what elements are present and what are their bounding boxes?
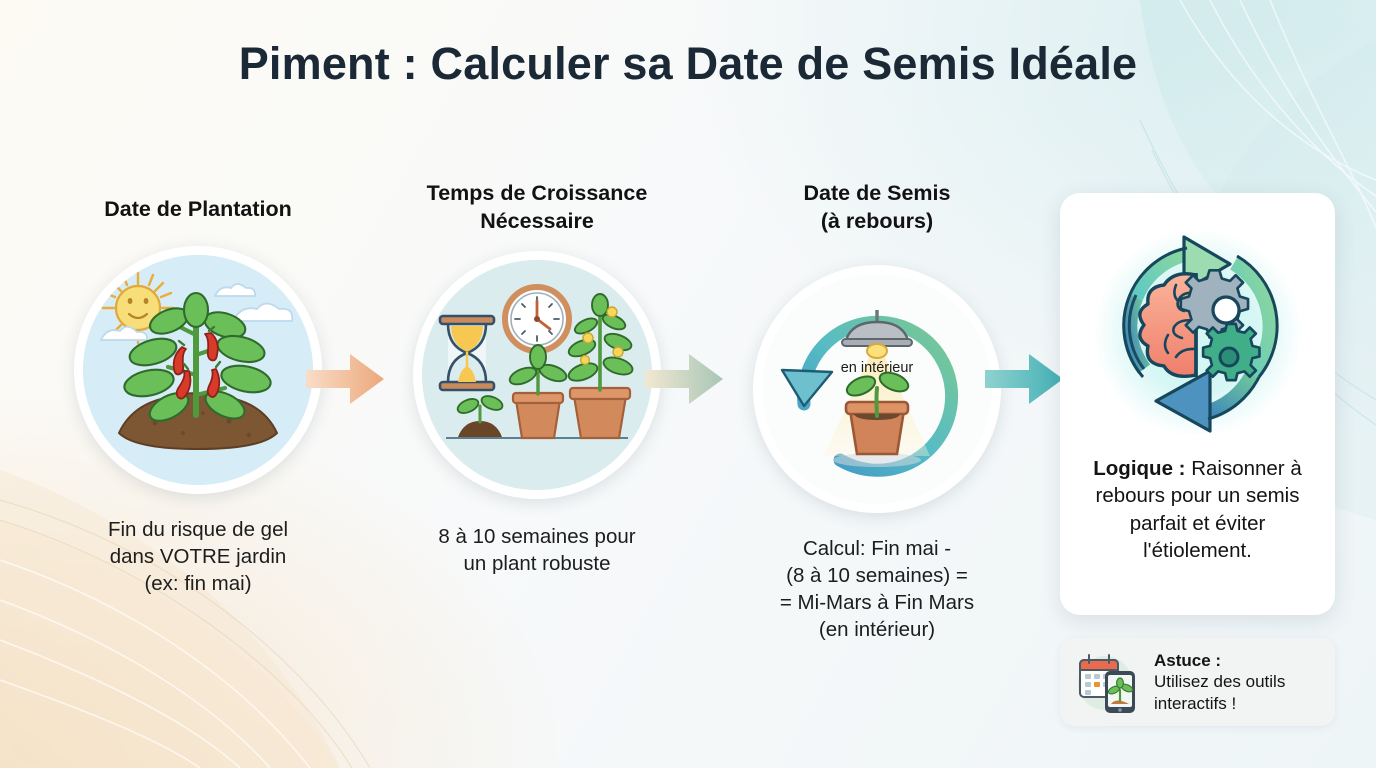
logic-card-text: Logique : Raisonner à rebours pour un se… [1060, 455, 1335, 564]
step3-heading: Date de Semis (à rebours) [712, 180, 1042, 235]
indoor-label: en intérieur [762, 360, 992, 376]
step3-caption: Calcul: Fin mai - (8 à 10 semaines) = = … [712, 535, 1042, 643]
arrow-step3-to-card [985, 348, 1065, 410]
step-date-de-semis: Date de Semis (à rebours) [712, 180, 1042, 643]
logic-card: Logique : Raisonner à rebours pour un se… [1060, 193, 1335, 615]
grow-lamp-seedling-pot-icon: en intérieur [753, 265, 1001, 513]
step1-heading: Date de Plantation [33, 196, 363, 224]
step3-illustration-wrap: en intérieur [753, 265, 1001, 513]
calendar-tablet-seedling-icon [1072, 649, 1144, 715]
tip-body: Utilisez des outils interactifs ! [1154, 671, 1285, 714]
page-title: Piment : Calculer sa Date de Semis Idéal… [0, 38, 1376, 90]
tip-title: Astuce : [1154, 650, 1285, 671]
hourglass-clock-growth-stages-icon [413, 251, 661, 499]
step1-illustration-wrap [74, 246, 322, 494]
chili-plant-sun-soil-icon [74, 246, 322, 494]
tip-card: Astuce : Utilisez des outils interactifs… [1060, 638, 1335, 726]
brain-gears-cycle-icon [1084, 217, 1312, 449]
step2-illustration-wrap [413, 251, 661, 499]
step1-caption: Fin du risque de gel dans VOTRE jardin (… [33, 516, 363, 597]
tip-card-text: Astuce : Utilisez des outils interactifs… [1154, 650, 1285, 714]
step2-heading: Temps de Croissance Nécessaire [372, 180, 702, 235]
infographic-canvas: Piment : Calculer sa Date de Semis Idéal… [0, 0, 1376, 768]
logic-label: Logique : [1093, 457, 1185, 480]
step2-caption: 8 à 10 semaines pour un plant robuste [372, 523, 702, 577]
